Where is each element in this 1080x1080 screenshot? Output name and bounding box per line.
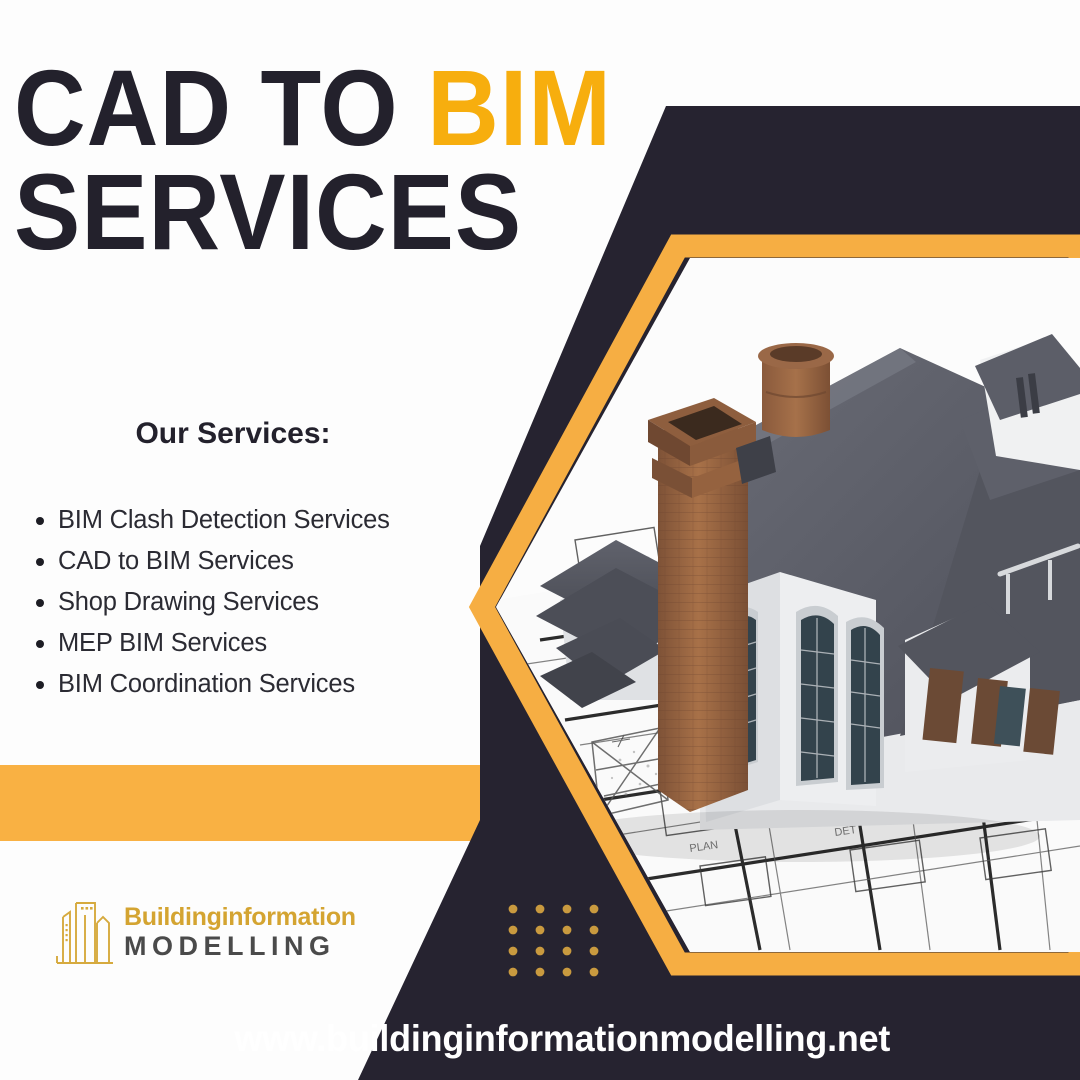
- headline-accent: BIM: [427, 47, 612, 168]
- list-item: BIM Clash Detection Services: [18, 500, 488, 541]
- services-heading: Our Services:: [0, 417, 466, 451]
- list-item: CAD to BIM Services: [18, 541, 488, 582]
- list-item: MEP BIM Services: [18, 623, 488, 664]
- headline-line-2: SERVICES: [14, 160, 566, 264]
- services-list: BIM Clash Detection Services CAD to BIM …: [18, 500, 488, 705]
- logo-top-text: Buildinginformation: [124, 905, 356, 930]
- logo-bottom-text: MODELLING: [124, 933, 356, 960]
- headline-prefix: CAD TO: [14, 47, 427, 168]
- logo-wordmark: Buildinginformation MODELLING: [124, 905, 356, 960]
- brand-logo: Buildinginformation MODELLING: [55, 893, 356, 971]
- footer-website-url[interactable]: www.buildinginformationmodelling.net: [16, 1018, 1064, 1060]
- list-item: Shop Drawing Services: [18, 582, 488, 623]
- page-title: CAD TO BIM SERVICES: [14, 56, 566, 263]
- headline-line-1: CAD TO BIM: [14, 56, 566, 160]
- list-item: BIM Coordination Services: [18, 664, 488, 705]
- buildings-outline-icon: [55, 893, 115, 971]
